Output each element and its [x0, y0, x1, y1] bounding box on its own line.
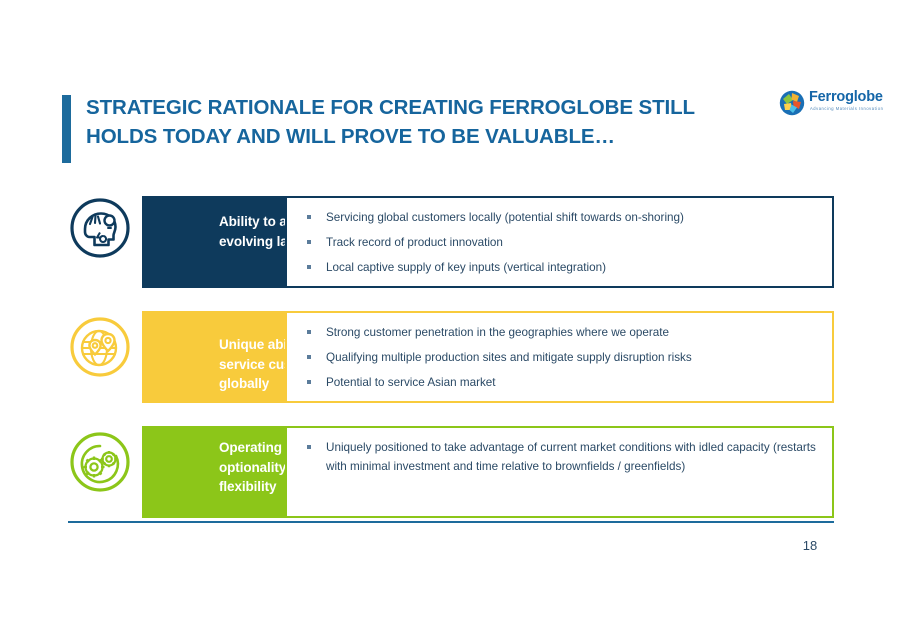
rationale-row-operating-footprint: Operating footprint optionality and flex… [68, 426, 834, 518]
rationale-row-global-service: Unique ability to service customers glob… [68, 311, 834, 403]
slide-canvas: STRATEGIC RATIONALE FOR CREATING FERROGL… [0, 0, 898, 635]
list-item-text: Local captive supply of key inputs (vert… [326, 261, 606, 274]
bullet-list: Uniquely positioned to take advantage of… [301, 439, 818, 476]
bullet-marker-icon [307, 330, 311, 334]
list-item: Strong customer penetration in the geogr… [301, 324, 818, 342]
page-title: STRATEGIC RATIONALE FOR CREATING FERROGL… [86, 93, 746, 151]
list-item-text: Track record of product innovation [326, 236, 503, 249]
list-item-text: Uniquely positioned to take advantage of… [326, 441, 816, 473]
list-item-text: Servicing global customers locally (pote… [326, 211, 684, 224]
list-item: Uniquely positioned to take advantage of… [301, 439, 818, 476]
head-lightbulb-icon [68, 196, 132, 260]
page-number: 18 [790, 538, 830, 553]
bullet-list: Servicing global customers locally (pote… [301, 209, 818, 276]
list-item: Track record of product innovation [301, 234, 818, 252]
row-content-box: Servicing global customers locally (pote… [285, 196, 834, 288]
list-item-text: Qualifying multiple production sites and… [326, 351, 692, 364]
gears-icon [68, 430, 132, 494]
bullet-marker-icon [307, 355, 311, 359]
list-item: Local captive supply of key inputs (vert… [301, 259, 818, 277]
page-title-line-1: STRATEGIC RATIONALE FOR CREATING FERROGL… [86, 93, 746, 122]
list-item: Potential to service Asian market [301, 374, 818, 392]
title-accent-bar [62, 95, 71, 163]
list-item-text: Potential to service Asian market [326, 376, 496, 389]
footer-divider [68, 521, 834, 523]
logo-wordmark: Ferroglobe [809, 90, 883, 105]
globe-pins-icon [68, 315, 132, 379]
slide-header: STRATEGIC RATIONALE FOR CREATING FERROGL… [62, 95, 762, 163]
bullet-marker-icon [307, 265, 311, 269]
rationale-row-adaptability: Ability to adapt to evolving landscape S… [68, 196, 834, 288]
row-content-box: Strong customer penetration in the geogr… [285, 311, 834, 403]
bullet-marker-icon [307, 380, 311, 384]
bullet-marker-icon [307, 215, 311, 219]
list-item: Servicing global customers locally (pote… [301, 209, 818, 227]
globe-logo-icon [779, 90, 805, 116]
logo-tagline: Advancing Materials Innovation [810, 107, 883, 111]
ferroglobe-logo: Ferroglobe Advancing Materials Innovatio… [779, 88, 883, 122]
list-item: Qualifying multiple production sites and… [301, 349, 818, 367]
list-item-text: Strong customer penetration in the geogr… [326, 326, 669, 339]
bullet-marker-icon [307, 240, 311, 244]
bullet-list: Strong customer penetration in the geogr… [301, 324, 818, 391]
page-title-line-2: HOLDS TODAY AND WILL PROVE TO BE VALUABL… [86, 122, 746, 151]
row-content-box: Uniquely positioned to take advantage of… [285, 426, 834, 518]
bullet-marker-icon [307, 445, 311, 449]
